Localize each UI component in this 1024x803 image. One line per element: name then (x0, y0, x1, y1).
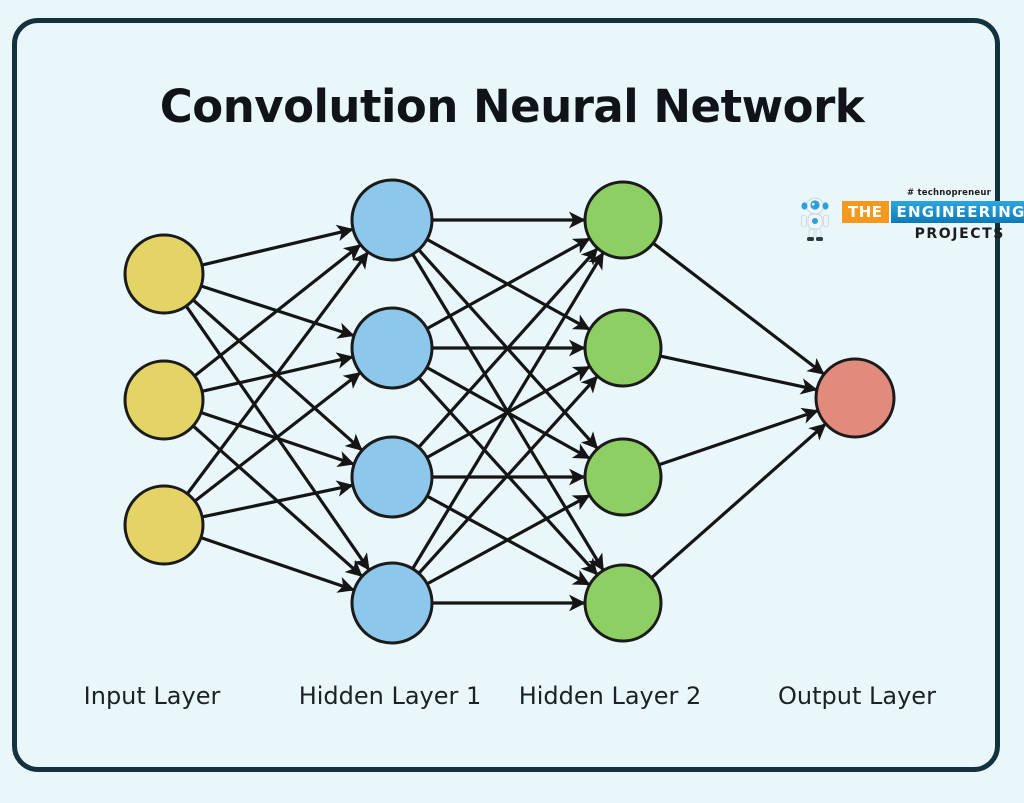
neuron-node-output-1[interactable] (816, 359, 894, 437)
brand-logo[interactable]: # technopreneur THE ENGINEERING PROJECTS (795, 188, 1007, 250)
neuron-node-hidden2-2[interactable] (585, 310, 661, 386)
connection-edge (201, 538, 353, 590)
layer-caption-hidden2: Hidden Layer 2 (512, 682, 708, 710)
logo-tagline: # technopreneur (907, 188, 991, 198)
neuron-node-input-1[interactable] (125, 235, 203, 313)
logo-word-projects: PROJECTS (915, 226, 1005, 242)
neuron-node-hidden2-3[interactable] (585, 439, 661, 515)
neuron-node-hidden1-3[interactable] (352, 437, 432, 517)
logo-wordmark: THE ENGINEERING (842, 201, 1024, 223)
connection-edge (195, 373, 360, 501)
neuron-node-input-2[interactable] (125, 361, 203, 439)
neuron-node-hidden2-4[interactable] (585, 565, 661, 641)
logo-word-engineering: ENGINEERING (891, 201, 1024, 223)
connection-edge (653, 243, 823, 374)
robot-mascot-icon (795, 196, 835, 242)
neuron-node-hidden1-1[interactable] (352, 180, 432, 260)
layer-caption-input: Input Layer (62, 682, 242, 710)
edge-group (186, 220, 825, 603)
logo-word-the: THE (842, 201, 889, 223)
connection-edge (202, 229, 352, 265)
connection-edge (659, 411, 817, 465)
connection-edge (195, 245, 360, 375)
connection-edge (651, 424, 825, 577)
layer-caption-output: Output Layer (764, 682, 950, 710)
connection-edge (660, 356, 816, 390)
layer-caption-hidden1: Hidden Layer 1 (292, 682, 488, 710)
diagram-canvas: Convolution Neural Network Input Layer H… (0, 0, 1024, 803)
neuron-node-input-3[interactable] (125, 486, 203, 564)
neuron-node-hidden1-4[interactable] (352, 563, 432, 643)
neuron-node-hidden2-1[interactable] (585, 182, 661, 258)
neuron-node-hidden1-2[interactable] (352, 308, 432, 388)
